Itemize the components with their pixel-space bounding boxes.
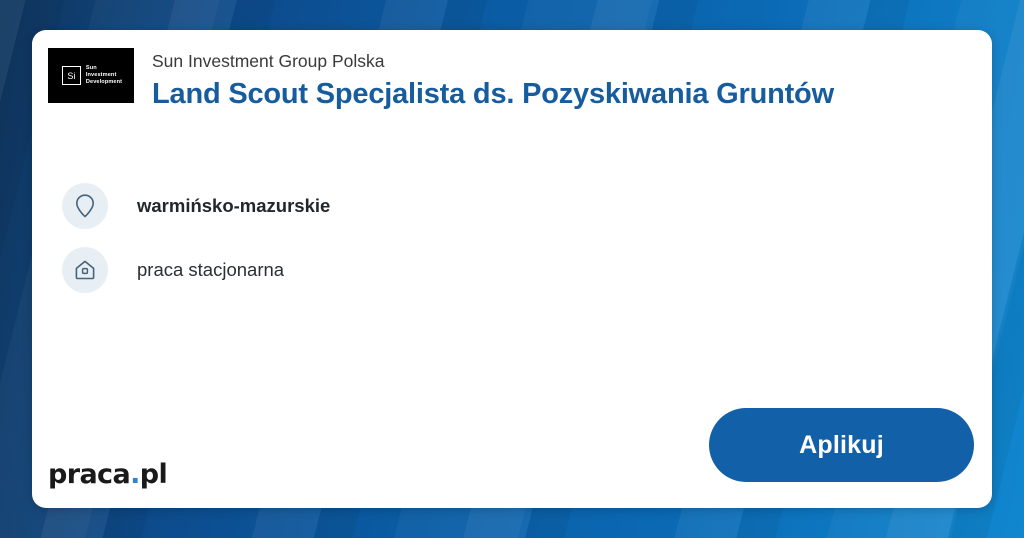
home-icon (62, 247, 108, 293)
job-details-list: warmińsko-mazurskie praca stacjonarna (62, 178, 330, 306)
page-title: Land Scout Specjalista ds. Pozyskiwania … (152, 74, 834, 114)
company-logo: Si Sun Investment Development (48, 48, 134, 103)
screenshot-stage: Si Sun Investment Development Sun Invest… (0, 0, 1024, 538)
praca-logo-tld: pl (140, 459, 167, 490)
praca-pl-logo[interactable]: praca.pl (48, 460, 167, 490)
company-logo-line-1: Sun (86, 65, 122, 72)
job-header: Si Sun Investment Development Sun Invest… (48, 48, 834, 114)
list-item: praca stacjonarna (62, 242, 330, 298)
list-item-label: warmińsko-mazurskie (137, 195, 330, 217)
list-item: warmińsko-mazurskie (62, 178, 330, 234)
job-offer-card: Si Sun Investment Development Sun Invest… (32, 30, 992, 508)
praca-logo-dot: . (130, 459, 140, 490)
company-logo-line-2: Investment (86, 72, 122, 79)
list-item-label: praca stacjonarna (137, 259, 284, 281)
company-logo-line-3: Development (86, 79, 122, 86)
praca-logo-main: praca (48, 459, 130, 490)
job-header-text: Sun Investment Group Polska Land Scout S… (152, 48, 834, 114)
location-pin-icon (62, 183, 108, 229)
company-logo-monogram: Si (62, 66, 81, 85)
company-logo-wordmark: Sun Investment Development (86, 65, 122, 87)
apply-button[interactable]: Aplikuj (709, 408, 974, 482)
company-name: Sun Investment Group Polska (152, 50, 834, 72)
